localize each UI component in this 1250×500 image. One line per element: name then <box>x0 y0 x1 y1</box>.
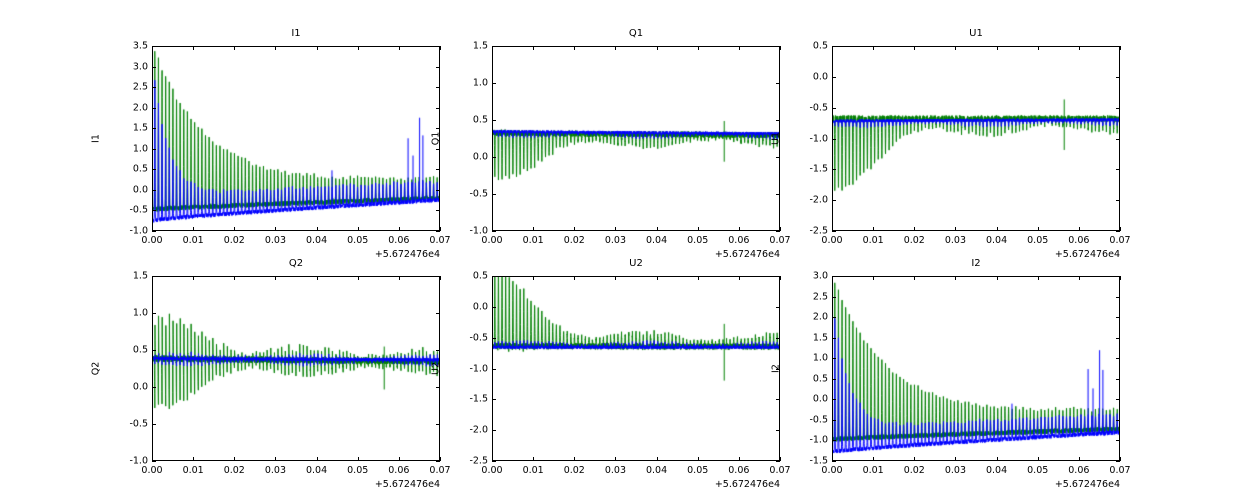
y-tick-mark <box>152 313 156 314</box>
plot-area <box>492 276 780 461</box>
x-tick-label: 0.02 <box>224 465 245 476</box>
x-tick-mark <box>358 276 359 280</box>
x-tick-mark <box>399 457 400 461</box>
y-tick-label: 1.0 <box>108 308 148 319</box>
x-tick-mark <box>955 46 956 50</box>
y-tick-mark <box>776 430 780 431</box>
x-tick-mark <box>234 46 235 50</box>
subplot-q2: Q2-1.0-0.50.00.51.01.50.000.010.020.030.… <box>152 276 440 461</box>
y-tick-label: -0.5 <box>788 414 828 425</box>
plot-area <box>152 46 440 231</box>
y-axis-label: U1 <box>771 118 782 158</box>
x-tick-mark <box>780 457 781 461</box>
x-tick-mark <box>1079 227 1080 231</box>
x-tick-mark <box>492 227 493 231</box>
y-tick-mark <box>832 108 836 109</box>
y-axis-label: I2 <box>771 348 782 388</box>
y-tick-mark <box>1116 317 1120 318</box>
x-tick-label: 0.03 <box>605 465 626 476</box>
y-tick-mark <box>152 350 156 351</box>
x-tick-mark <box>615 227 616 231</box>
y-tick-mark <box>436 67 440 68</box>
x-tick-mark <box>914 276 915 280</box>
x-tick-label: 0.05 <box>687 465 708 476</box>
x-tick-label: 0.00 <box>821 465 842 476</box>
y-tick-label: 0.5 <box>108 345 148 356</box>
x-tick-label: 0.07 <box>429 235 450 246</box>
x-tick-mark <box>832 457 833 461</box>
y-tick-mark <box>776 461 780 462</box>
y-tick-mark <box>832 420 836 421</box>
y-tick-label: 0.0 <box>108 382 148 393</box>
x-tick-mark <box>193 227 194 231</box>
x-tick-mark <box>914 46 915 50</box>
plot-area <box>832 276 1120 461</box>
x-tick-label: 0.06 <box>728 465 749 476</box>
y-tick-mark <box>152 231 156 232</box>
x-tick-mark <box>1079 276 1080 280</box>
x-tick-mark <box>234 227 235 231</box>
x-tick-label: 0.05 <box>1027 465 1048 476</box>
y-tick-mark <box>832 379 836 380</box>
x-tick-label: 0.04 <box>986 235 1007 246</box>
x-tick-label: 0.07 <box>769 465 790 476</box>
y-tick-label: 1.5 <box>108 123 148 134</box>
x-tick-mark <box>698 457 699 461</box>
x-tick-label: 0.04 <box>646 235 667 246</box>
y-tick-label: 2.5 <box>108 82 148 93</box>
x-tick-mark <box>152 227 153 231</box>
x-axis-offset-text: +5.672476e4 <box>1010 479 1120 490</box>
y-tick-label: 1.0 <box>788 353 828 364</box>
x-tick-label: 0.02 <box>904 235 925 246</box>
y-tick-label: 1.5 <box>788 332 828 343</box>
x-tick-mark <box>533 46 534 50</box>
x-tick-mark <box>997 227 998 231</box>
y-tick-mark <box>1116 358 1120 359</box>
y-tick-mark <box>492 157 496 158</box>
y-tick-mark <box>492 307 496 308</box>
x-tick-label: 0.02 <box>904 465 925 476</box>
data-traces <box>833 277 1120 461</box>
y-tick-mark <box>152 461 156 462</box>
x-tick-mark <box>440 227 441 231</box>
y-tick-mark <box>1116 440 1120 441</box>
matplotlib-figure: I1-1.0-0.50.00.51.01.52.02.53.03.50.000.… <box>0 0 1250 500</box>
y-tick-label: 3.0 <box>788 271 828 282</box>
x-tick-mark <box>780 227 781 231</box>
x-tick-mark <box>955 457 956 461</box>
y-tick-mark <box>492 231 496 232</box>
data-traces <box>153 277 440 461</box>
x-tick-label: 0.04 <box>646 465 667 476</box>
plot-area <box>832 46 1120 231</box>
x-tick-label: 0.07 <box>1109 235 1130 246</box>
y-tick-label: -2.0 <box>788 195 828 206</box>
y-tick-mark <box>152 387 156 388</box>
x-axis-offset-text: +5.672476e4 <box>330 479 440 490</box>
x-tick-label: 0.05 <box>687 235 708 246</box>
y-tick-label: -0.5 <box>108 205 148 216</box>
x-tick-label: 0.01 <box>183 465 204 476</box>
x-tick-mark <box>1038 46 1039 50</box>
x-tick-mark <box>492 276 493 280</box>
x-tick-label: 0.04 <box>306 235 327 246</box>
x-tick-mark <box>780 46 781 50</box>
x-tick-mark <box>193 457 194 461</box>
x-tick-mark <box>657 46 658 50</box>
x-tick-label: 0.06 <box>728 235 749 246</box>
y-tick-mark <box>436 190 440 191</box>
y-tick-mark <box>1116 399 1120 400</box>
x-tick-label: 0.03 <box>945 235 966 246</box>
y-tick-mark <box>832 139 836 140</box>
x-tick-mark <box>1120 457 1121 461</box>
y-tick-mark <box>832 461 836 462</box>
y-axis-label: I1 <box>91 118 102 158</box>
x-tick-mark <box>152 276 153 280</box>
x-tick-mark <box>234 457 235 461</box>
x-tick-label: 0.00 <box>141 235 162 246</box>
x-tick-mark <box>317 457 318 461</box>
y-tick-label: 2.0 <box>788 312 828 323</box>
y-tick-mark <box>436 313 440 314</box>
y-tick-label: -0.5 <box>448 189 488 200</box>
y-tick-mark <box>776 338 780 339</box>
y-tick-mark <box>1116 139 1120 140</box>
x-tick-mark <box>440 457 441 461</box>
x-tick-mark <box>1038 457 1039 461</box>
x-tick-mark <box>152 46 153 50</box>
y-tick-mark <box>1116 169 1120 170</box>
x-tick-mark <box>440 276 441 280</box>
y-tick-mark <box>776 83 780 84</box>
y-tick-mark <box>152 128 156 129</box>
y-tick-label: 3.0 <box>108 61 148 72</box>
y-tick-mark <box>776 194 780 195</box>
x-tick-mark <box>997 46 998 50</box>
y-tick-label: 0.5 <box>788 373 828 384</box>
subplot-title: I2 <box>832 258 1120 270</box>
x-tick-mark <box>1079 46 1080 50</box>
x-tick-label: 0.01 <box>183 235 204 246</box>
subplot-title: U2 <box>492 258 780 270</box>
x-tick-label: 0.04 <box>306 465 327 476</box>
x-tick-label: 0.00 <box>481 235 502 246</box>
y-tick-mark <box>492 461 496 462</box>
y-tick-mark <box>832 440 836 441</box>
x-tick-label: 0.03 <box>945 465 966 476</box>
x-tick-mark <box>492 457 493 461</box>
x-tick-mark <box>698 227 699 231</box>
x-tick-label: 0.01 <box>863 465 884 476</box>
x-tick-mark <box>832 227 833 231</box>
x-tick-mark <box>780 276 781 280</box>
y-tick-label: -1.5 <box>448 394 488 405</box>
x-tick-label: 0.03 <box>265 235 286 246</box>
x-tick-mark <box>698 46 699 50</box>
x-tick-mark <box>1120 276 1121 280</box>
y-tick-label: 0.5 <box>448 271 488 282</box>
x-tick-label: 0.02 <box>224 235 245 246</box>
x-tick-mark <box>574 46 575 50</box>
x-tick-mark <box>657 457 658 461</box>
x-tick-mark <box>739 227 740 231</box>
x-tick-mark <box>832 276 833 280</box>
y-tick-label: 3.5 <box>108 41 148 52</box>
y-tick-mark <box>436 231 440 232</box>
y-tick-label: -1.0 <box>788 133 828 144</box>
y-tick-label: 0.0 <box>448 152 488 163</box>
y-tick-mark <box>152 210 156 211</box>
x-tick-mark <box>399 276 400 280</box>
x-tick-mark <box>914 227 915 231</box>
y-tick-label: 0.0 <box>448 301 488 312</box>
x-tick-mark <box>739 46 740 50</box>
y-tick-mark <box>152 149 156 150</box>
y-tick-label: 1.0 <box>108 143 148 154</box>
x-tick-label: 0.01 <box>523 465 544 476</box>
x-tick-mark <box>873 227 874 231</box>
x-tick-label: 0.01 <box>523 235 544 246</box>
y-tick-mark <box>776 307 780 308</box>
x-tick-mark <box>1120 46 1121 50</box>
x-tick-mark <box>574 457 575 461</box>
y-tick-label: -2.0 <box>448 425 488 436</box>
y-tick-mark <box>832 231 836 232</box>
subplot-i1: I1-1.0-0.50.00.51.01.52.02.53.03.50.000.… <box>152 46 440 231</box>
subplot-q1: Q1-1.0-0.50.00.51.01.50.000.010.020.030.… <box>492 46 780 231</box>
x-tick-label: 0.00 <box>141 465 162 476</box>
x-tick-mark <box>739 457 740 461</box>
y-tick-mark <box>492 338 496 339</box>
x-tick-mark <box>997 276 998 280</box>
y-tick-mark <box>436 210 440 211</box>
y-tick-mark <box>832 297 836 298</box>
y-axis-label: Q1 <box>431 118 442 158</box>
x-tick-mark <box>873 46 874 50</box>
x-tick-label: 0.02 <box>564 235 585 246</box>
x-tick-mark <box>739 276 740 280</box>
x-tick-label: 0.01 <box>863 235 884 246</box>
x-tick-mark <box>317 276 318 280</box>
y-tick-mark <box>1116 231 1120 232</box>
y-tick-label: -1.0 <box>448 363 488 374</box>
y-tick-label: -0.5 <box>788 102 828 113</box>
x-tick-mark <box>1038 227 1039 231</box>
x-tick-label: 0.07 <box>769 235 790 246</box>
y-tick-label: 0.0 <box>108 184 148 195</box>
x-tick-label: 0.00 <box>821 235 842 246</box>
y-tick-mark <box>832 338 836 339</box>
y-tick-mark <box>492 194 496 195</box>
x-tick-mark <box>615 457 616 461</box>
y-tick-label: 1.0 <box>448 78 488 89</box>
y-tick-mark <box>492 83 496 84</box>
x-tick-mark <box>317 227 318 231</box>
subplot-u2: U2-2.5-2.0-1.5-1.0-0.50.00.50.000.010.02… <box>492 276 780 461</box>
x-tick-mark <box>399 46 400 50</box>
x-tick-mark <box>955 276 956 280</box>
x-tick-mark <box>275 276 276 280</box>
subplot-title: Q2 <box>152 258 440 270</box>
x-tick-mark <box>657 276 658 280</box>
x-tick-mark <box>997 457 998 461</box>
y-tick-mark <box>832 169 836 170</box>
x-tick-label: 0.04 <box>986 465 1007 476</box>
x-tick-label: 0.06 <box>388 235 409 246</box>
x-tick-mark <box>615 46 616 50</box>
y-tick-label: 0.5 <box>108 164 148 175</box>
y-tick-mark <box>152 424 156 425</box>
y-tick-label: 1.5 <box>108 271 148 282</box>
y-tick-label: 2.0 <box>108 102 148 113</box>
x-tick-mark <box>275 46 276 50</box>
y-tick-mark <box>152 87 156 88</box>
y-tick-label: 0.0 <box>788 394 828 405</box>
x-tick-mark <box>574 227 575 231</box>
x-tick-mark <box>234 276 235 280</box>
x-tick-mark <box>1120 227 1121 231</box>
data-traces <box>493 277 780 461</box>
x-tick-mark <box>533 457 534 461</box>
y-tick-mark <box>152 67 156 68</box>
x-tick-mark <box>358 227 359 231</box>
x-tick-mark <box>1079 457 1080 461</box>
plot-area <box>492 46 780 231</box>
y-tick-mark <box>492 120 496 121</box>
plot-area <box>152 276 440 461</box>
y-tick-mark <box>436 87 440 88</box>
y-tick-mark <box>436 108 440 109</box>
x-tick-mark <box>574 276 575 280</box>
y-tick-mark <box>1116 338 1120 339</box>
subplot-title: U1 <box>832 28 1120 40</box>
x-tick-label: 0.00 <box>481 465 502 476</box>
y-tick-label: 0.5 <box>448 115 488 126</box>
x-tick-mark <box>440 46 441 50</box>
x-tick-mark <box>533 227 534 231</box>
y-tick-mark <box>1116 420 1120 421</box>
x-tick-label: 0.06 <box>388 465 409 476</box>
y-tick-mark <box>492 399 496 400</box>
y-tick-mark <box>1116 379 1120 380</box>
x-tick-label: 0.02 <box>564 465 585 476</box>
y-tick-label: 1.5 <box>448 41 488 52</box>
y-tick-label: -1.0 <box>788 435 828 446</box>
data-traces <box>153 47 440 231</box>
y-tick-mark <box>152 169 156 170</box>
y-tick-label: -0.5 <box>108 419 148 430</box>
x-tick-mark <box>873 276 874 280</box>
y-tick-mark <box>776 399 780 400</box>
y-tick-mark <box>1116 200 1120 201</box>
y-axis-label: Q2 <box>91 348 102 388</box>
x-tick-mark <box>955 227 956 231</box>
x-axis-offset-text: +5.672476e4 <box>670 479 780 490</box>
x-tick-mark <box>914 457 915 461</box>
y-tick-mark <box>436 461 440 462</box>
subplot-i2: I2-1.5-1.0-0.50.00.51.01.52.02.53.00.000… <box>832 276 1120 461</box>
x-tick-mark <box>317 46 318 50</box>
x-tick-mark <box>152 457 153 461</box>
x-tick-label: 0.06 <box>1068 465 1089 476</box>
y-tick-mark <box>776 231 780 232</box>
y-tick-mark <box>152 190 156 191</box>
x-tick-mark <box>358 46 359 50</box>
x-tick-mark <box>193 276 194 280</box>
y-tick-label: 0.5 <box>788 41 828 52</box>
x-tick-mark <box>615 276 616 280</box>
x-tick-mark <box>657 227 658 231</box>
x-tick-label: 0.07 <box>429 465 450 476</box>
y-tick-mark <box>1116 297 1120 298</box>
y-tick-label: -1.5 <box>788 164 828 175</box>
data-traces <box>493 47 780 231</box>
y-tick-mark <box>436 424 440 425</box>
x-tick-mark <box>873 457 874 461</box>
y-tick-label: 2.5 <box>788 291 828 302</box>
x-tick-mark <box>1038 276 1039 280</box>
x-tick-mark <box>275 227 276 231</box>
x-tick-mark <box>193 46 194 50</box>
x-tick-mark <box>275 457 276 461</box>
subplot-u1: U1-2.5-2.0-1.5-1.0-0.50.00.50.000.010.02… <box>832 46 1120 231</box>
x-tick-mark <box>698 276 699 280</box>
x-tick-label: 0.05 <box>347 465 368 476</box>
x-tick-mark <box>533 276 534 280</box>
y-tick-mark <box>1116 77 1120 78</box>
x-tick-label: 0.07 <box>1109 465 1130 476</box>
y-tick-mark <box>832 399 836 400</box>
data-traces <box>833 47 1120 231</box>
x-tick-mark <box>399 227 400 231</box>
y-tick-label: -0.5 <box>448 332 488 343</box>
y-tick-mark <box>832 317 836 318</box>
y-tick-label: 0.0 <box>788 71 828 82</box>
y-tick-mark <box>152 108 156 109</box>
x-tick-label: 0.03 <box>605 235 626 246</box>
subplot-title: I1 <box>152 28 440 40</box>
y-axis-label: U2 <box>431 348 442 388</box>
y-tick-mark <box>492 369 496 370</box>
x-tick-label: 0.03 <box>265 465 286 476</box>
x-tick-label: 0.05 <box>347 235 368 246</box>
x-tick-label: 0.06 <box>1068 235 1089 246</box>
subplot-title: Q1 <box>492 28 780 40</box>
y-tick-mark <box>436 169 440 170</box>
x-tick-mark <box>492 46 493 50</box>
y-tick-mark <box>832 77 836 78</box>
y-tick-mark <box>1116 108 1120 109</box>
y-tick-mark <box>832 358 836 359</box>
y-tick-mark <box>1116 461 1120 462</box>
y-tick-mark <box>492 430 496 431</box>
x-tick-label: 0.05 <box>1027 235 1048 246</box>
x-tick-mark <box>832 46 833 50</box>
x-tick-mark <box>358 457 359 461</box>
y-tick-mark <box>832 200 836 201</box>
